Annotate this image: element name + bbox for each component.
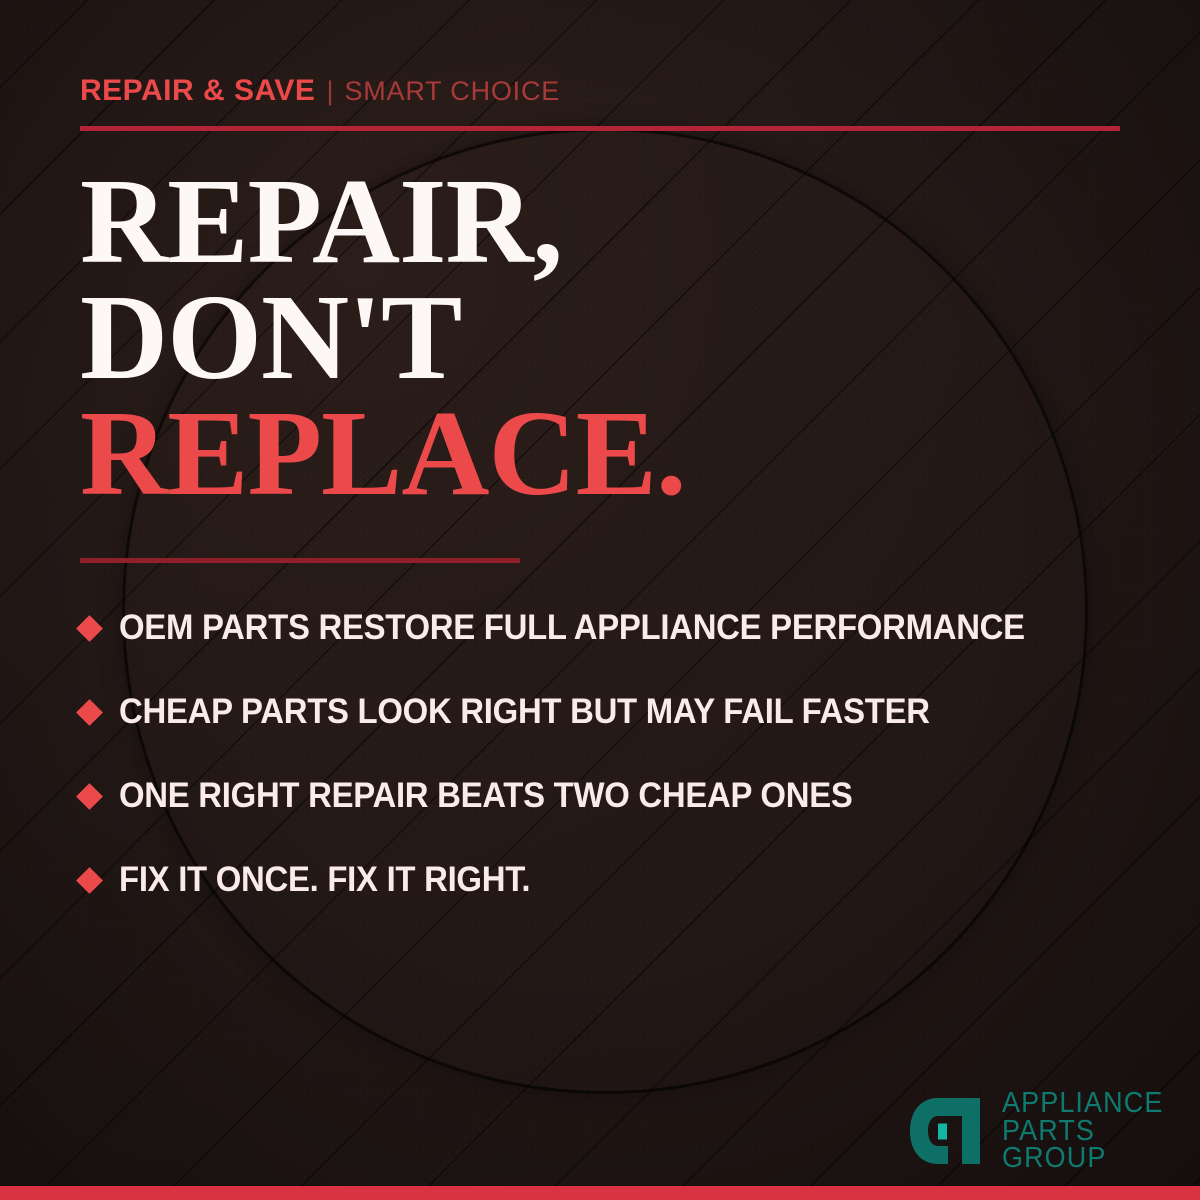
eyebrow-separator: | bbox=[326, 76, 333, 107]
eyebrow-sub-label: SMART CHOICE bbox=[344, 76, 560, 107]
brand-logo-line-2: PARTS bbox=[1002, 1118, 1163, 1145]
brand-logo-line-1: APPLIANCE bbox=[1002, 1090, 1163, 1117]
page-title: REPAIR, DON'T REPLACE. bbox=[80, 164, 685, 512]
diamond-bullet-icon bbox=[76, 867, 103, 894]
list-item-label: FIX IT ONCE. FIX IT RIGHT. bbox=[119, 860, 530, 900]
diamond-bullet-icon bbox=[76, 783, 103, 810]
headline-line-1: REPAIR, bbox=[80, 164, 685, 280]
eyebrow-main-label: REPAIR & SAVE bbox=[80, 74, 315, 108]
bottom-accent-bar bbox=[0, 1186, 1200, 1200]
list-item-label: OEM PARTS RESTORE FULL APPLIANCE PERFORM… bbox=[119, 608, 1025, 648]
brand-logo: APPLIANCE PARTS GROUP bbox=[904, 1090, 1176, 1172]
poster-content: REPAIR & SAVE | SMART CHOICE REPAIR, DON… bbox=[0, 0, 1200, 1200]
list-item-label: CHEAP PARTS LOOK RIGHT BUT MAY FAIL FAST… bbox=[119, 692, 930, 732]
list-item: ONE RIGHT REPAIR BEATS TWO CHEAP ONES bbox=[80, 754, 1140, 838]
diamond-bullet-icon bbox=[76, 615, 103, 642]
mid-divider-rule bbox=[80, 558, 520, 563]
apg-g-monogram-icon bbox=[904, 1092, 988, 1170]
brand-logo-line-3: GROUP bbox=[1002, 1145, 1163, 1172]
headline-line-3: REPLACE. bbox=[80, 396, 685, 512]
top-divider-rule bbox=[80, 126, 1120, 131]
list-item-label: ONE RIGHT REPAIR BEATS TWO CHEAP ONES bbox=[119, 776, 853, 816]
list-item: OEM PARTS RESTORE FULL APPLIANCE PERFORM… bbox=[80, 586, 1140, 670]
eyebrow: REPAIR & SAVE | SMART CHOICE bbox=[80, 74, 560, 108]
list-item: FIX IT ONCE. FIX IT RIGHT. bbox=[80, 838, 1140, 922]
headline-line-2: DON'T bbox=[80, 280, 685, 396]
diamond-bullet-icon bbox=[76, 699, 103, 726]
benefits-list: OEM PARTS RESTORE FULL APPLIANCE PERFORM… bbox=[80, 586, 1140, 922]
brand-logo-wordmark: APPLIANCE PARTS GROUP bbox=[1002, 1090, 1163, 1172]
list-item: CHEAP PARTS LOOK RIGHT BUT MAY FAIL FAST… bbox=[80, 670, 1140, 754]
promo-poster: REPAIR & SAVE | SMART CHOICE REPAIR, DON… bbox=[0, 0, 1200, 1200]
